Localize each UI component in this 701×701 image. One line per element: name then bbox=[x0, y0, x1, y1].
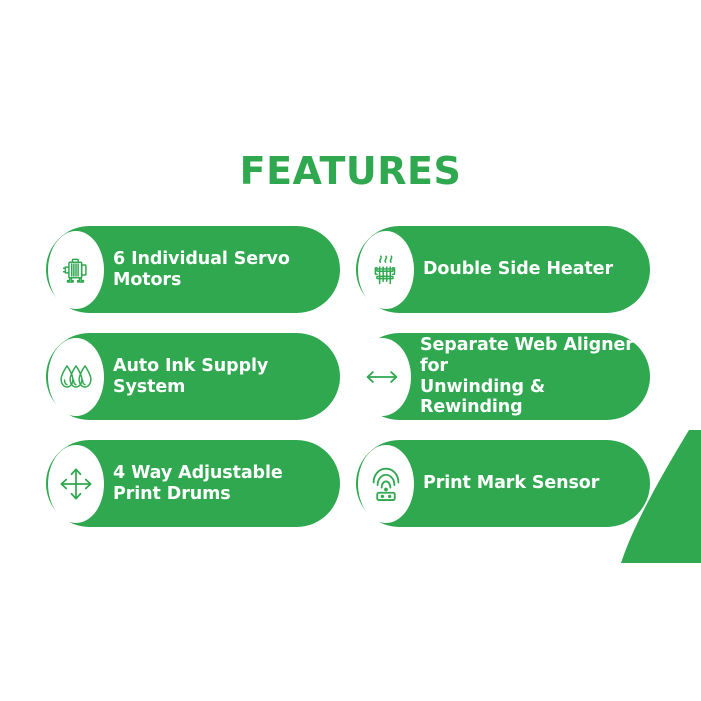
radiator-heater-icon bbox=[358, 231, 414, 309]
features-infographic: FEATURES bbox=[0, 0, 701, 701]
features-grid: 6 Individual Servo Motors bbox=[46, 226, 650, 527]
features-row-3: 4 Way Adjustable Print Drums bbox=[46, 440, 650, 527]
feature-label: 6 Individual Servo Motors bbox=[113, 249, 300, 290]
feature-label: 4 Way Adjustable Print Drums bbox=[113, 463, 293, 504]
features-row-1: 6 Individual Servo Motors bbox=[46, 226, 650, 313]
feature-card-auto-ink-supply[interactable]: Auto Ink Supply System bbox=[46, 333, 340, 420]
feature-card-web-aligner[interactable]: Separate Web Aligner for Unwinding & Rew… bbox=[356, 333, 650, 420]
feature-label: Print Mark Sensor bbox=[423, 473, 609, 494]
ink-drops-icon bbox=[48, 338, 104, 416]
feature-label: Auto Ink Supply System bbox=[113, 356, 340, 397]
feature-label: Separate Web Aligner for Unwinding & Rew… bbox=[420, 335, 650, 418]
feature-card-print-drums[interactable]: 4 Way Adjustable Print Drums bbox=[46, 440, 340, 527]
page-title: FEATURES bbox=[0, 152, 701, 190]
feature-card-servo-motors[interactable]: 6 Individual Servo Motors bbox=[46, 226, 340, 313]
feature-card-print-mark-sensor[interactable]: Print Mark Sensor bbox=[356, 440, 650, 527]
feature-label: Double Side Heater bbox=[423, 259, 623, 280]
electric-motor-icon bbox=[48, 231, 104, 309]
signal-sensor-icon bbox=[358, 445, 414, 523]
feature-card-double-side-heater[interactable]: Double Side Heater bbox=[356, 226, 650, 313]
left-right-arrow-icon bbox=[353, 338, 411, 416]
four-way-arrow-icon bbox=[48, 445, 104, 523]
features-row-2: Auto Ink Supply System Separate Web Alig… bbox=[46, 333, 650, 420]
